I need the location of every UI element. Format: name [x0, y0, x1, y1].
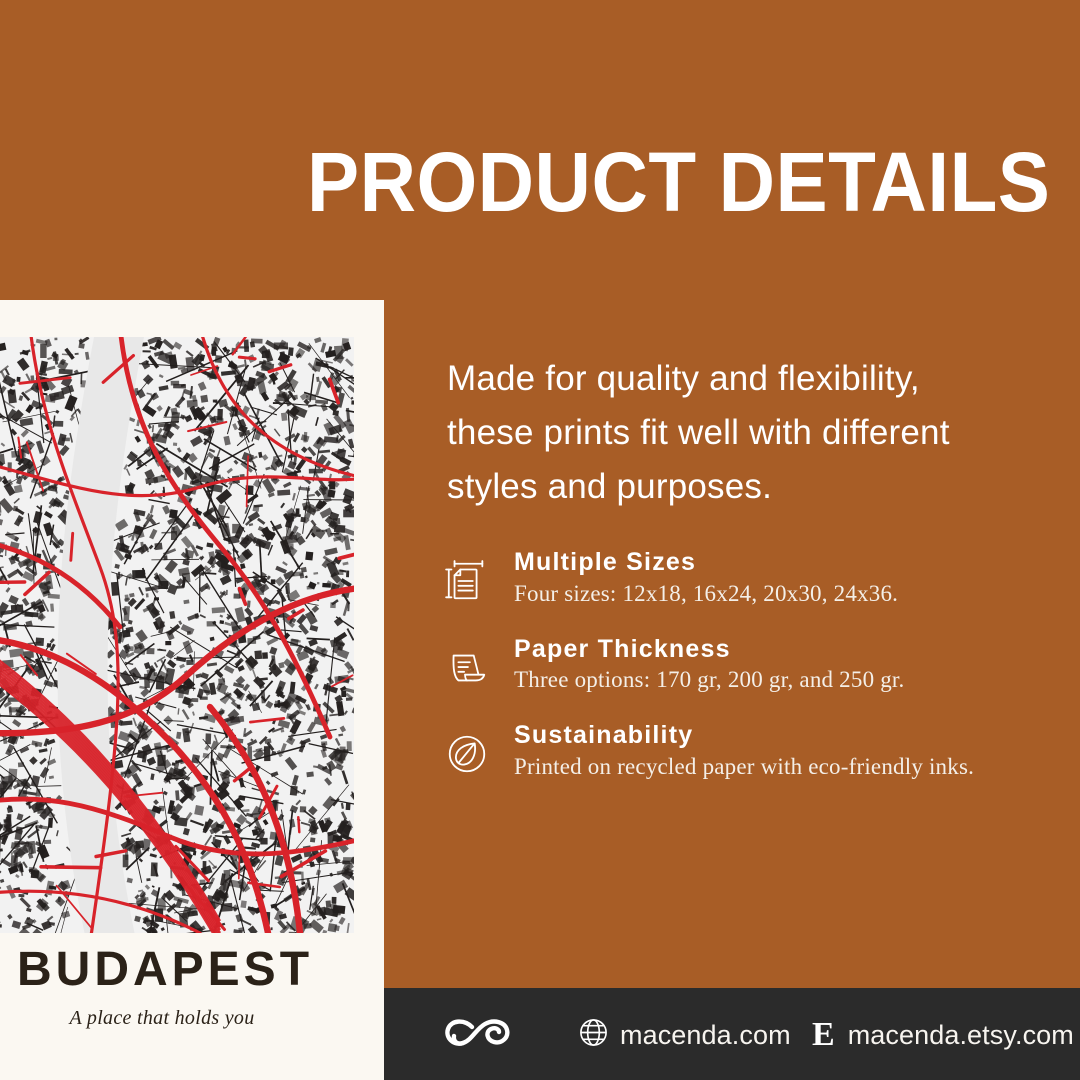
globe-icon [578, 1017, 609, 1053]
poster-city-name: BUDAPEST [0, 945, 354, 995]
intro-line-2: these prints fit well with different [447, 406, 987, 460]
document-ruler-icon [444, 548, 496, 604]
feature-list: Multiple Sizes Four sizes: 12x18, 16x24,… [444, 548, 1064, 808]
footer-link-label: macenda.etsy.com [848, 1020, 1074, 1051]
feature-description: Four sizes: 12x18, 16x24, 20x30, 24x36. [514, 580, 898, 609]
poster-tagline: A place that holds you [0, 1007, 354, 1030]
poster-card: BUDAPEST A place that holds you [0, 300, 384, 1080]
footer-link-label: macenda.com [620, 1020, 791, 1051]
etsy-e-icon: E [812, 1018, 835, 1052]
intro-line-1: Made for quality and flexibility, [447, 352, 987, 406]
intro-line-3: styles and purposes. [447, 460, 987, 514]
feature-description: Three options: 170 gr, 200 gr, and 250 g… [514, 666, 904, 695]
city-map-image [0, 337, 354, 933]
curled-paper-icon [444, 635, 496, 691]
poster-caption: BUDAPEST A place that holds you [0, 945, 354, 1030]
intro-paragraph: Made for quality and flexibility, these … [447, 352, 987, 514]
leaf-circle-icon [444, 721, 496, 777]
feature-item-paper-thickness: Paper Thickness Three options: 170 gr, 2… [444, 635, 1064, 696]
feature-description: Printed on recycled paper with eco-frien… [514, 753, 974, 782]
feature-title: Sustainability [514, 721, 974, 750]
footer-link-website[interactable]: macenda.com [578, 1012, 791, 1058]
feature-item-sustainability: Sustainability Printed on recycled paper… [444, 721, 1064, 782]
page-title: PRODUCT DETAILS [307, 140, 986, 224]
footer-link-etsy[interactable]: E macenda.etsy.com [812, 1012, 1074, 1058]
infinity-monogram-icon [442, 1010, 528, 1064]
feature-item-multiple-sizes: Multiple Sizes Four sizes: 12x18, 16x24,… [444, 548, 1064, 609]
feature-title: Multiple Sizes [514, 548, 898, 577]
poster-graphic-canvas: PRODUCT DETAILS Made for quality and fle… [0, 0, 1080, 1080]
feature-title: Paper Thickness [514, 635, 904, 664]
